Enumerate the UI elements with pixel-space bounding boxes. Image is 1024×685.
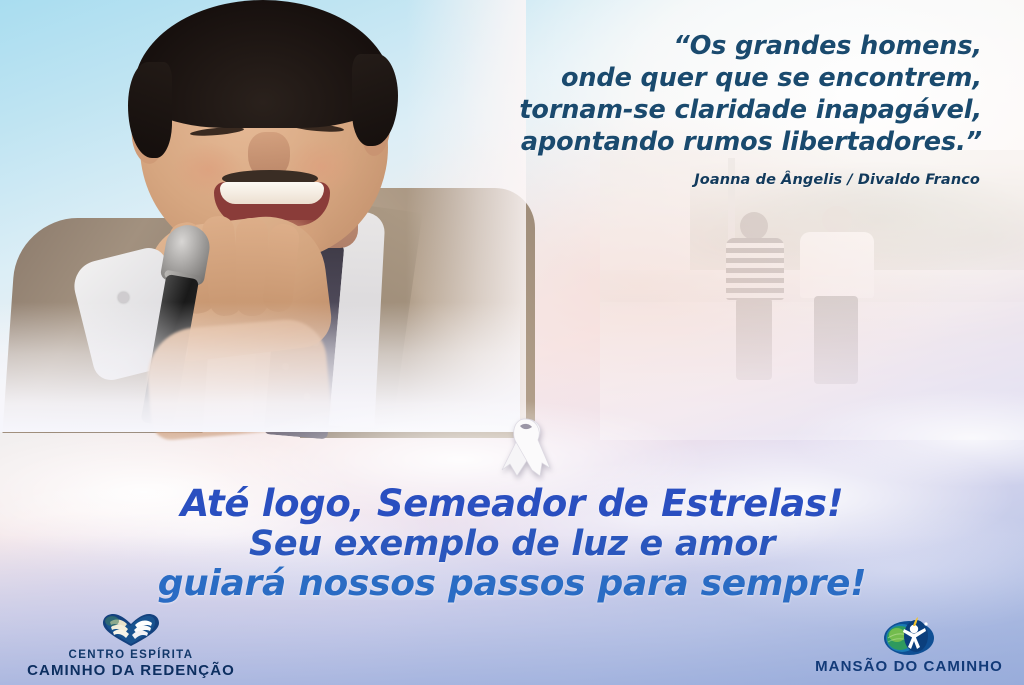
quote-line-2: onde quer que se encontrem, (362, 62, 982, 94)
logo-left-line-1: CENTRO ESPÍRITA (6, 649, 256, 662)
quote-line-3: tornam-se claridade inapagável, (362, 94, 982, 126)
white-mourning-ribbon-icon (492, 412, 558, 484)
logo-left-line-2: CAMINHO DA REDENÇÃO (6, 662, 256, 679)
globe-figure-icon (882, 616, 936, 656)
quote-line-1: “Os grandes homens, (362, 30, 982, 62)
quote-line-4: apontando rumos libertadores.” (362, 126, 982, 158)
headline-line-1: Até logo, Semeador de Estrelas! (0, 484, 1024, 524)
heart-hands-icon (102, 613, 160, 647)
headline-block: Até logo, Semeador de Estrelas! Seu exem… (0, 484, 1024, 604)
logo-right-line-1: MANSÃO DO CAMINHO (804, 658, 1014, 675)
headline-line-2: Seu exemplo de luz e amor (0, 524, 1024, 564)
headline-line-3: guiará nossos passos para sempre! (0, 564, 1024, 604)
hair-side-left (128, 62, 172, 158)
memorial-poster: “Os grandes homens, onde quer que se enc… (0, 0, 1024, 685)
logo-mansao-do-caminho: MANSÃO DO CAMINHO (804, 616, 1014, 675)
quote-attribution: Joanna de Ângelis / Divaldo Franco (694, 172, 980, 188)
quote-text: “Os grandes homens, onde quer que se enc… (362, 30, 982, 158)
teeth (220, 182, 324, 204)
logo-centro-espirita: CENTRO ESPÍRITA CAMINHO DA REDENÇÃO (6, 613, 256, 679)
